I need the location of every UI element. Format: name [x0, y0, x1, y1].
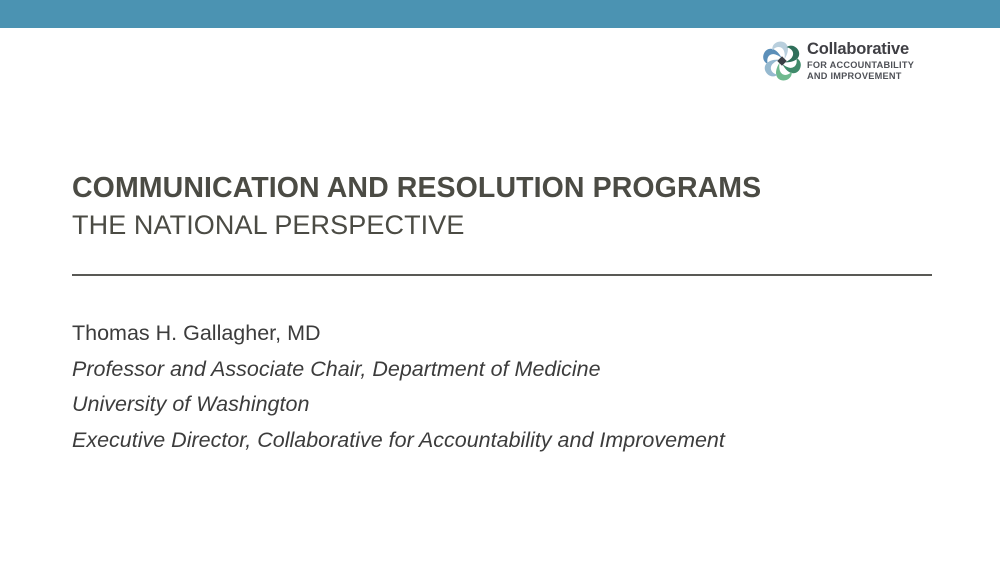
logo-wordmark: Collaborative FOR ACCOUNTABILITY AND IMP…	[807, 41, 914, 80]
page-title: COMMUNICATION AND RESOLUTION PROGRAMS TH…	[72, 172, 942, 241]
presentation-slide: Collaborative FOR ACCOUNTABILITY AND IMP…	[0, 0, 1000, 563]
logo-tagline-line-1: FOR ACCOUNTABILITY	[807, 61, 914, 70]
title-divider-rule	[72, 274, 932, 276]
logo-tagline-line-2: AND IMPROVEMENT	[807, 72, 914, 81]
byline-institution: University of Washington	[72, 387, 952, 423]
presenter-byline: Thomas H. Gallagher, MD Professor and As…	[72, 316, 952, 459]
logo-word: Collaborative	[807, 41, 914, 58]
collaborative-pinwheel-logo-icon	[761, 40, 803, 82]
top-accent-bar	[0, 0, 1000, 28]
byline-role: Professor and Associate Chair, Departmen…	[72, 352, 952, 388]
byline-name: Thomas H. Gallagher, MD	[72, 316, 952, 352]
title-main: COMMUNICATION AND RESOLUTION PROGRAMS	[72, 172, 942, 205]
collaborative-logo: Collaborative FOR ACCOUNTABILITY AND IMP…	[761, 37, 911, 85]
byline-affiliation: Executive Director, Collaborative for Ac…	[72, 423, 952, 459]
title-subtitle: THE NATIONAL PERSPECTIVE	[72, 210, 942, 241]
